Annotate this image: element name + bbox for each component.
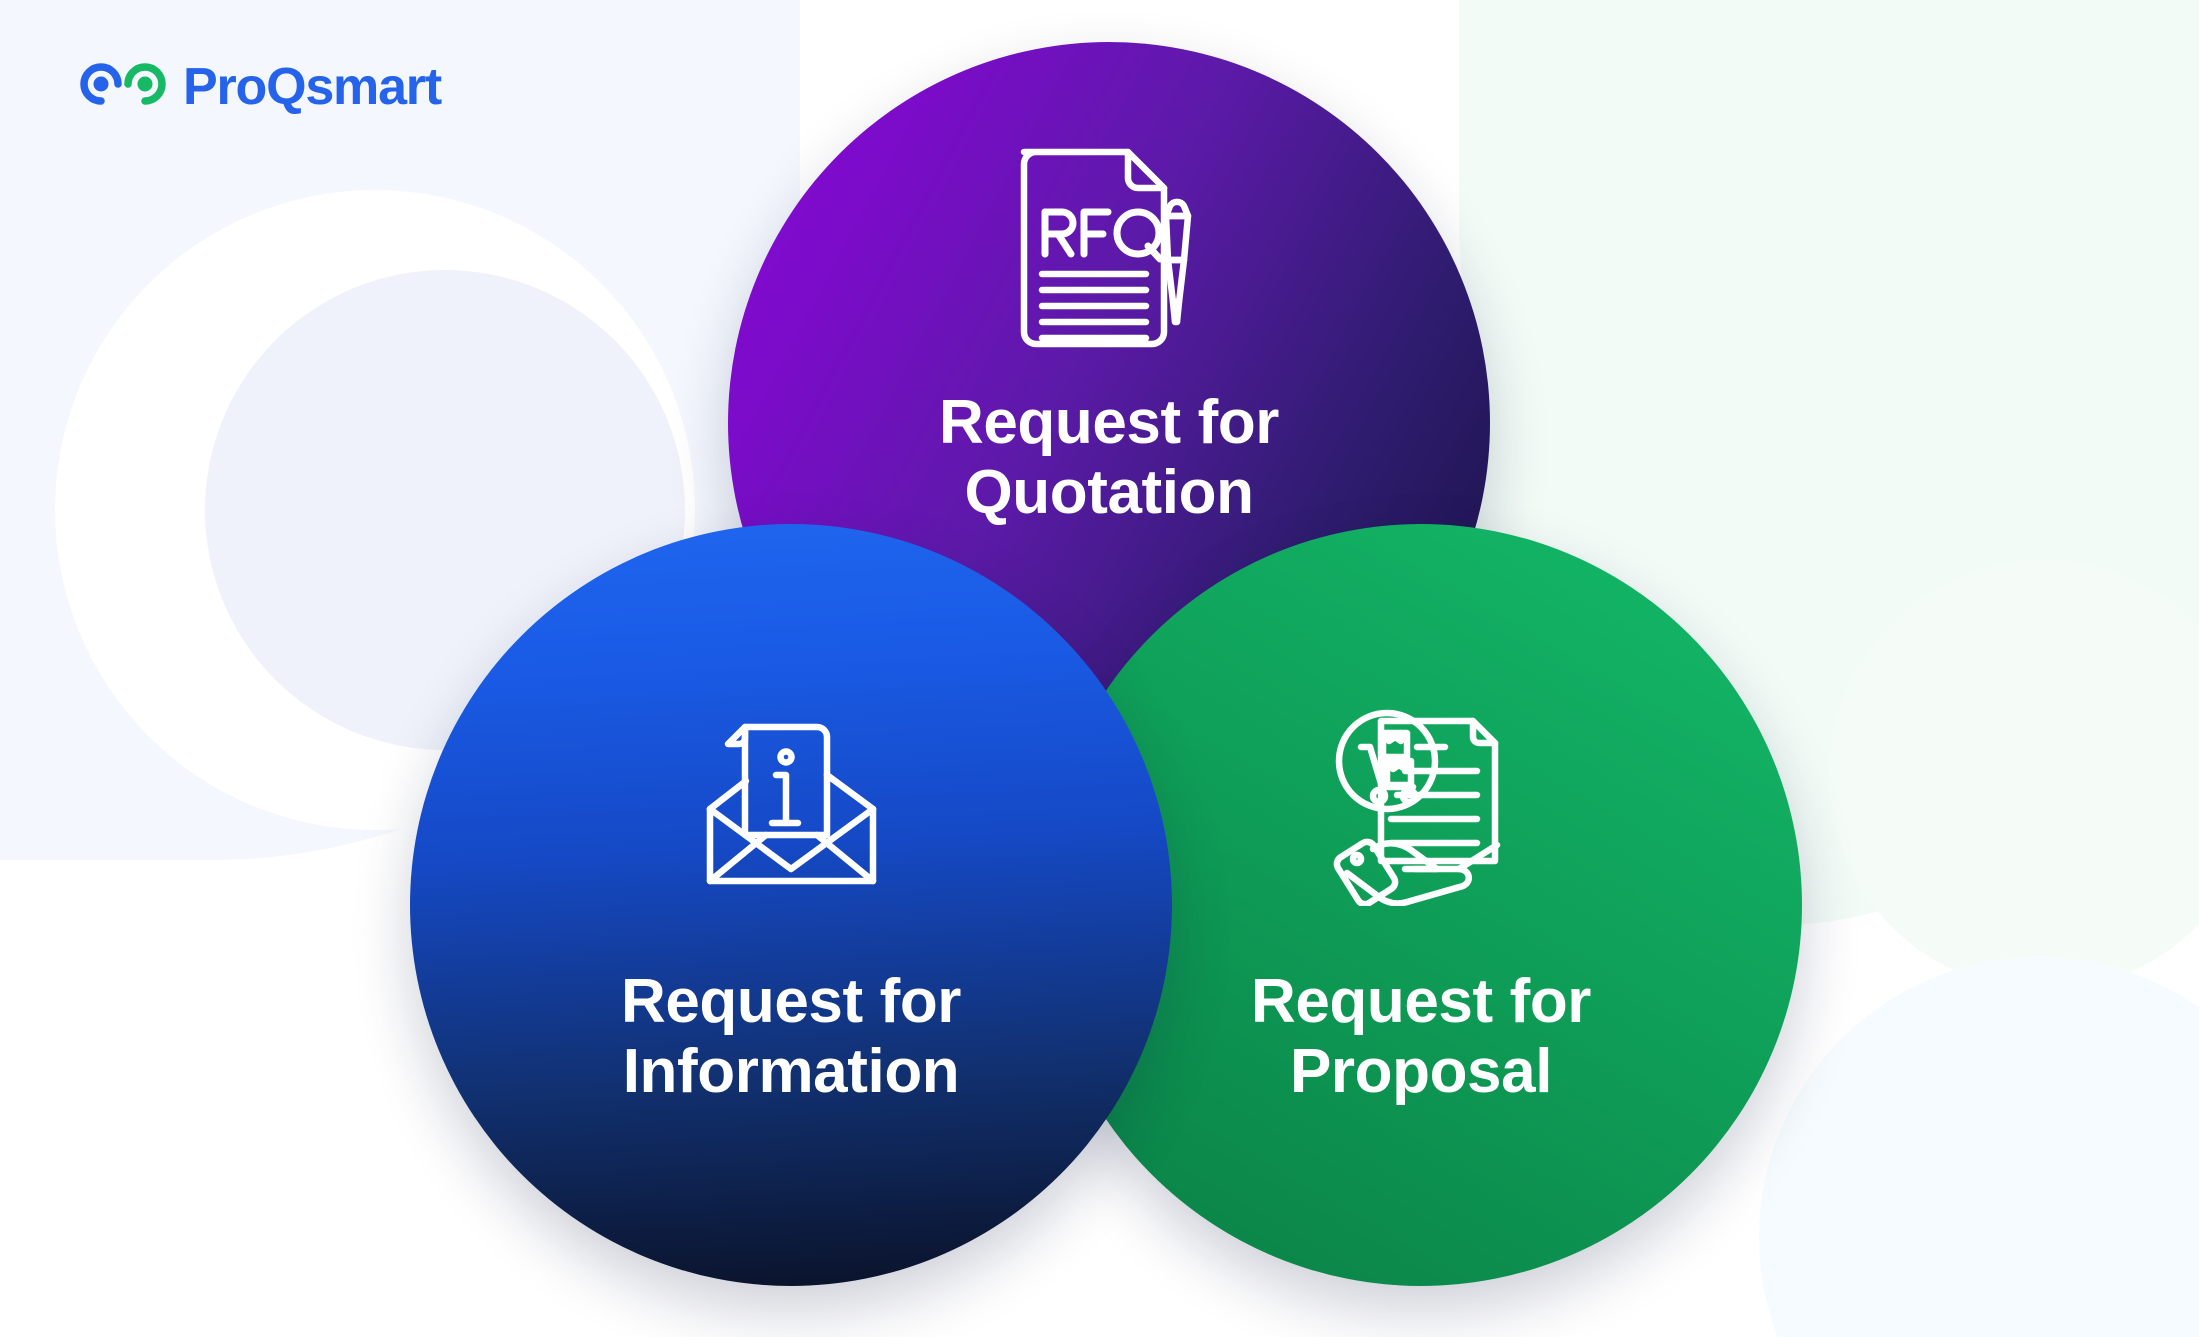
proqsmart-rings-icon: [80, 58, 166, 115]
venn-circle-rfi-label: Request for Information: [621, 967, 961, 1107]
envelope-with-info-document-icon: [684, 676, 899, 921]
infographic-canvas: ProQsmart: [0, 0, 2199, 1337]
venn-circle-rfp-label: Request for Proposal: [1251, 967, 1591, 1107]
venn-diagram: Request for Quotation: [0, 0, 2199, 1337]
brand-name: ProQsmart: [183, 61, 441, 113]
venn-circle-rfq-label: Request for Quotation: [939, 388, 1279, 528]
venn-circle-rfi[interactable]: Request for Information: [410, 524, 1172, 1286]
brand-logo[interactable]: ProQsmart: [80, 58, 441, 115]
document-rfq-with-pen-icon: [1004, 124, 1214, 374]
hand-holding-document-with-cart-badge-icon: [1309, 676, 1534, 921]
